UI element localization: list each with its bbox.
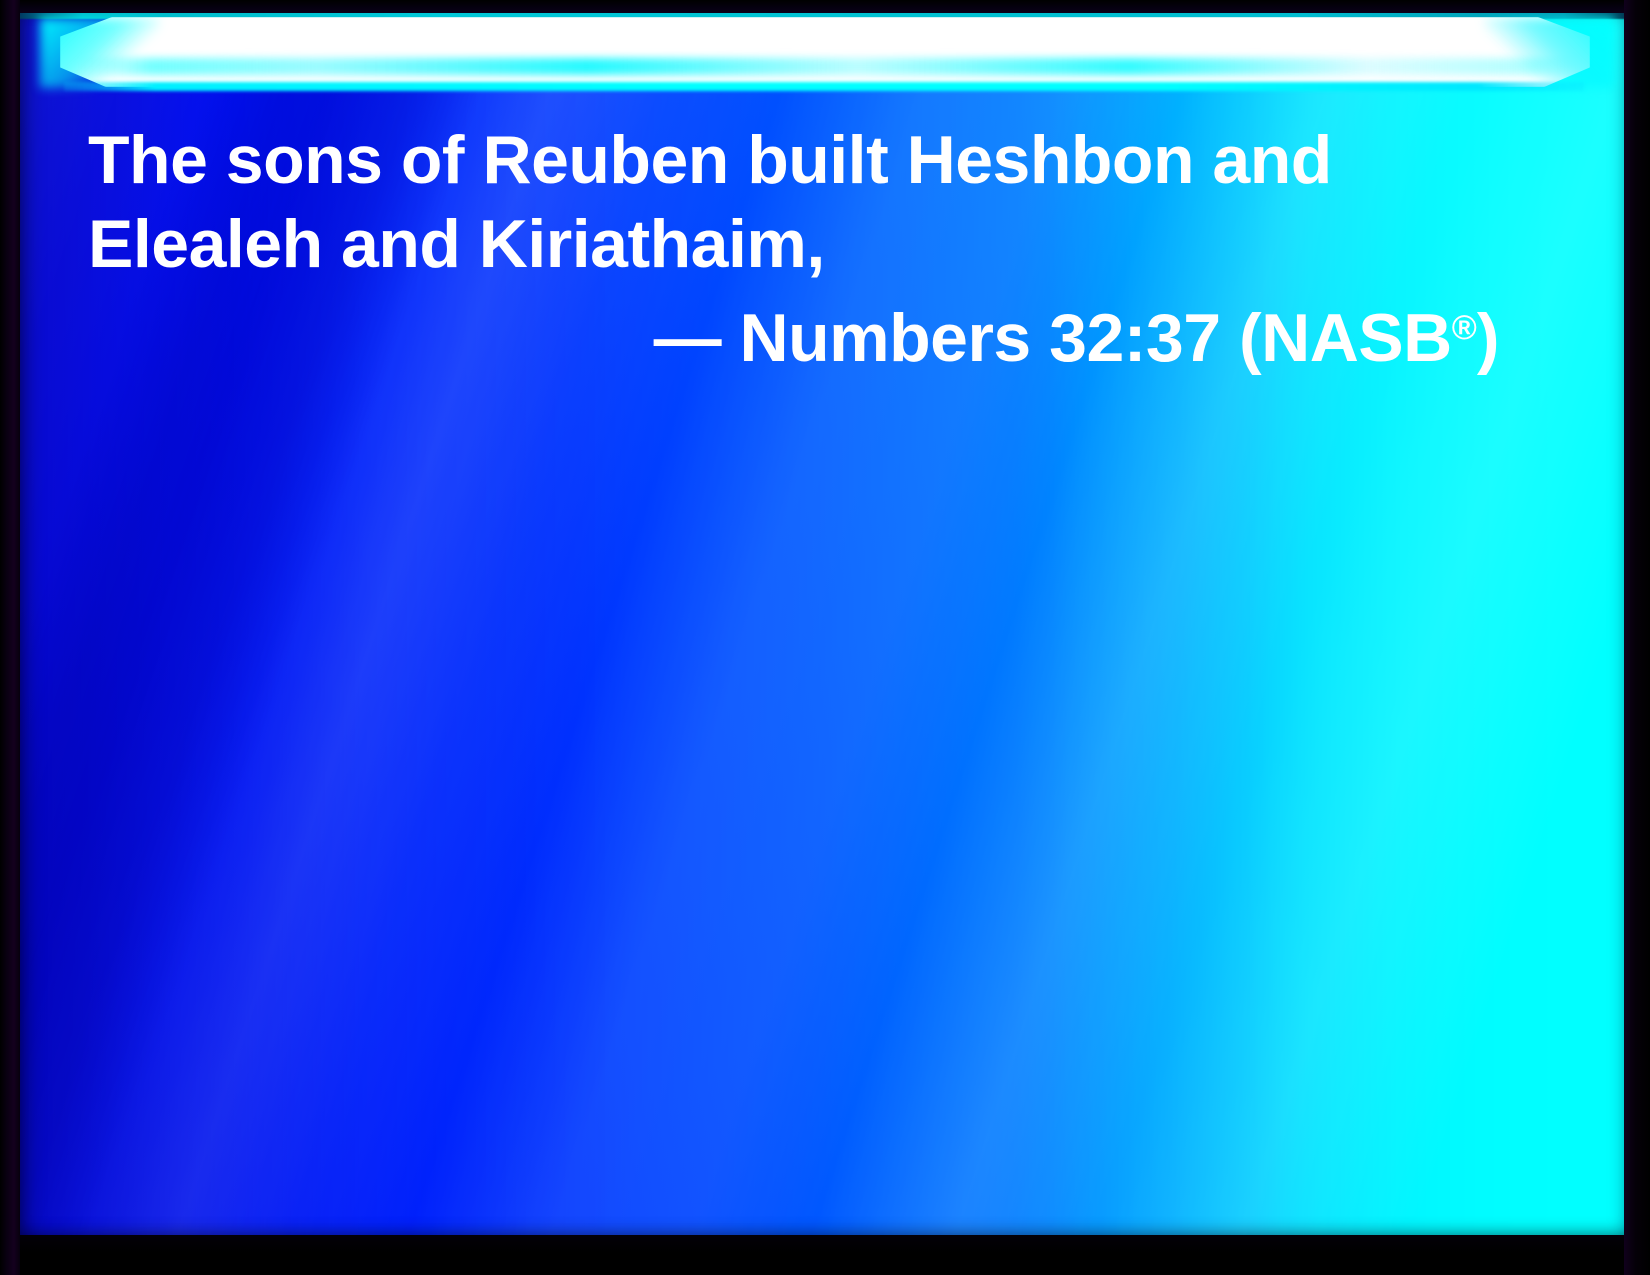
frame-border-right [1624, 0, 1650, 1275]
verse-attribution: — Numbers 32:37 (NASB®) [0, 292, 1499, 374]
attribution-dash: — [654, 300, 740, 376]
frame-border-top [0, 0, 1650, 13]
verse-line-1: The sons of Reuben built Heshbon and [88, 124, 1332, 196]
registered-trademark-icon: ® [1452, 309, 1477, 347]
attribution-reference: Numbers 32:37 (NASB [740, 300, 1452, 376]
scripture-slide: The sons of Reuben built Heshbon and Ele… [0, 0, 1650, 1275]
frame-border-left [0, 0, 20, 1275]
attribution-closing-paren: ) [1477, 300, 1499, 376]
frame-border-bottom [0, 1235, 1650, 1275]
verse-line-2: Elealeh and Kiriathaim, [88, 208, 825, 280]
